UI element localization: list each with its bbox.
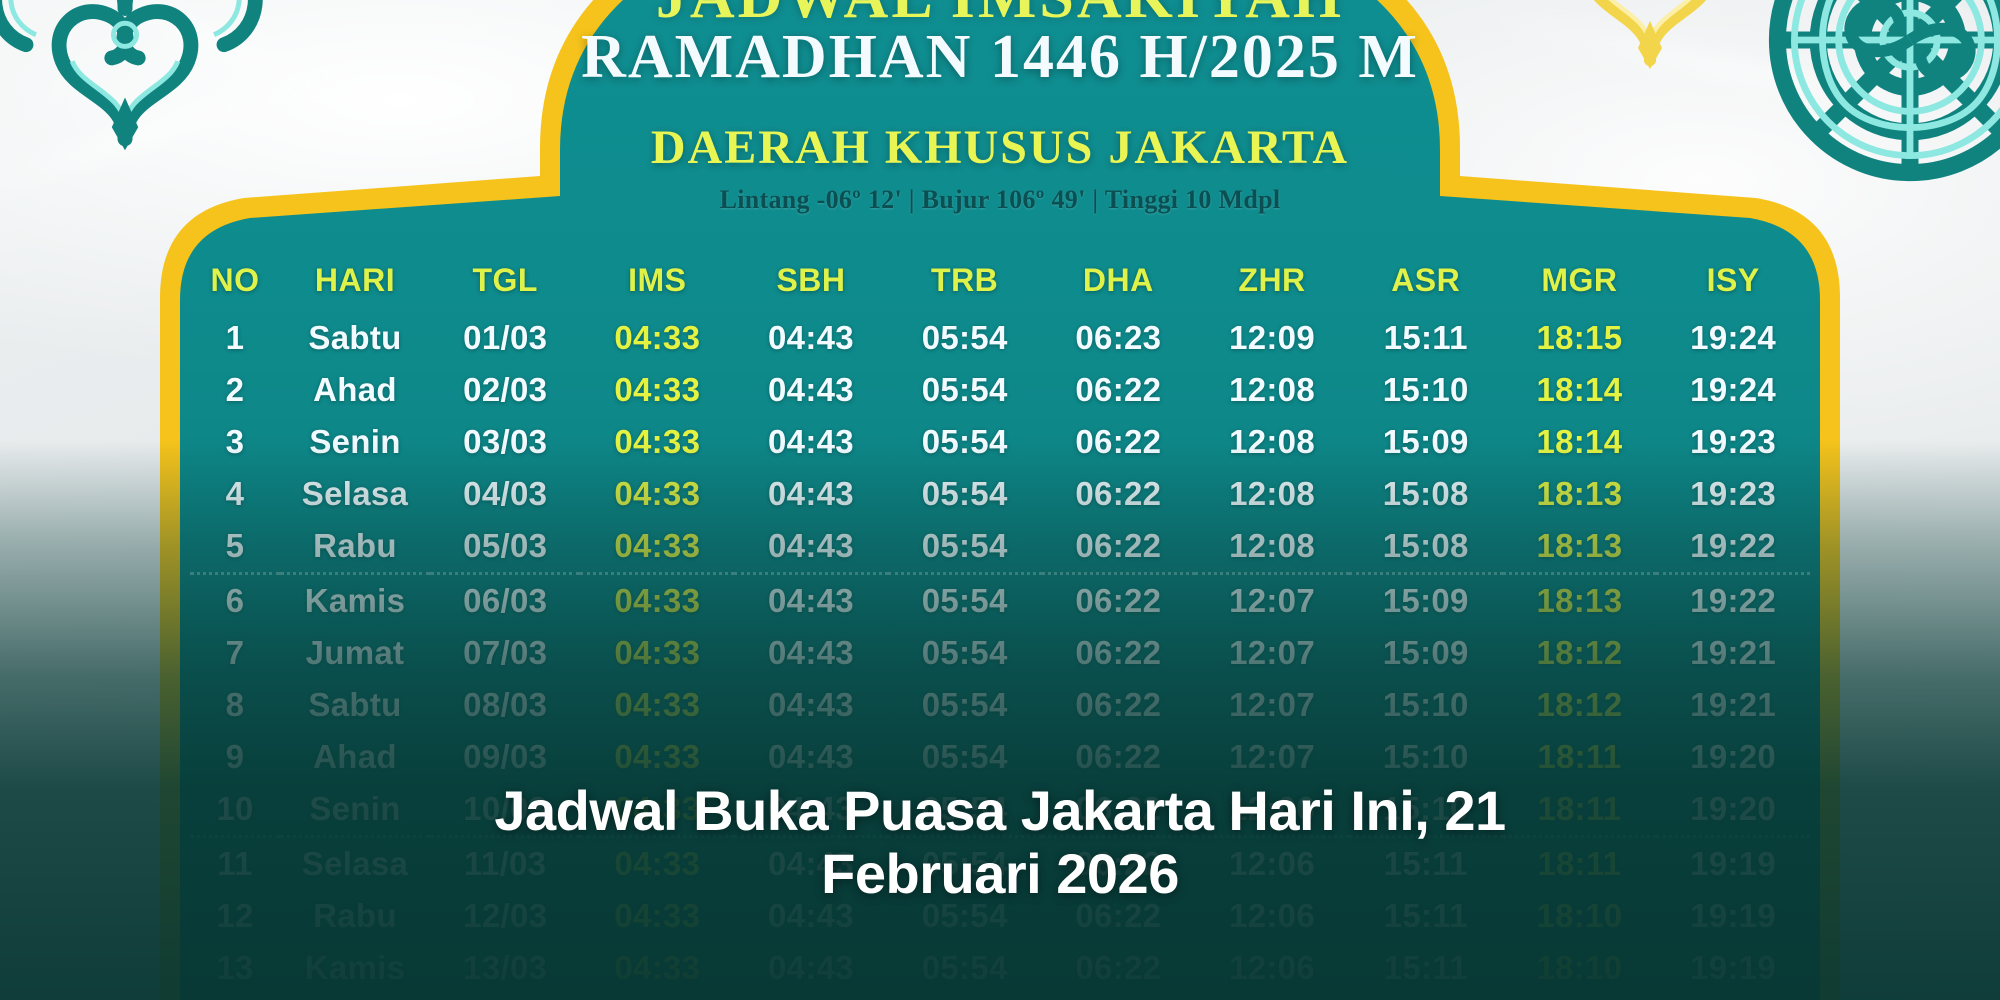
column-header-no: NO bbox=[190, 258, 280, 312]
cell-tgl: 07/03 bbox=[430, 627, 580, 679]
cell-zhr: 12:08 bbox=[1195, 416, 1349, 468]
cell-zhr: 12:07 bbox=[1195, 627, 1349, 679]
cell-sbh: 04:43 bbox=[734, 627, 888, 679]
cell-trb: 05:54 bbox=[888, 574, 1042, 628]
cell-dha: 06:22 bbox=[1042, 520, 1196, 574]
cell-sbh: 04:43 bbox=[734, 942, 888, 994]
cell-tgl: 04/03 bbox=[430, 468, 580, 520]
cell-mgr: 18:14 bbox=[1503, 416, 1657, 468]
cell-ims: 04:33 bbox=[580, 468, 734, 520]
cell-tgl: 09/03 bbox=[430, 731, 580, 783]
cell-no: 8 bbox=[190, 679, 280, 731]
cell-zhr: 12:08 bbox=[1195, 364, 1349, 416]
table-row: 13Kamis13/0304:3304:4305:5406:2212:0615:… bbox=[190, 942, 1810, 994]
cell-zhr: 12:07 bbox=[1195, 731, 1349, 783]
column-header-hari: HARI bbox=[280, 258, 430, 312]
cell-isy: 19:23 bbox=[1656, 416, 1810, 468]
cell-trb: 05:54 bbox=[888, 520, 1042, 574]
cell-hari: Ahad bbox=[280, 364, 430, 416]
cell-trb: 05:54 bbox=[888, 312, 1042, 364]
cell-zhr: 12:07 bbox=[1195, 679, 1349, 731]
cell-tgl: 01/03 bbox=[430, 312, 580, 364]
cell-dha: 06:23 bbox=[1042, 312, 1196, 364]
cell-zhr: 12:09 bbox=[1195, 312, 1349, 364]
cell-no: 2 bbox=[190, 364, 280, 416]
cell-isy: 19:22 bbox=[1656, 520, 1810, 574]
cell-dha: 06:22 bbox=[1042, 574, 1196, 628]
cell-zhr: 12:08 bbox=[1195, 520, 1349, 574]
cell-hari: Sabtu bbox=[280, 312, 430, 364]
caption-line-2: Februari 2026 bbox=[0, 843, 2000, 906]
cell-no: 5 bbox=[190, 520, 280, 574]
cell-asr: 15:10 bbox=[1349, 679, 1503, 731]
cell-asr: 15:10 bbox=[1349, 731, 1503, 783]
table-row: 3Senin03/0304:3304:4305:5406:2212:0815:0… bbox=[190, 416, 1810, 468]
cell-dha: 06:22 bbox=[1042, 416, 1196, 468]
cell-sbh: 04:43 bbox=[734, 574, 888, 628]
cell-isy: 19:24 bbox=[1656, 364, 1810, 416]
cell-no: 6 bbox=[190, 574, 280, 628]
table-header-row: NOHARITGLIMSSBHTRBDHAZHRASRMGRISY bbox=[190, 258, 1810, 312]
cell-ims: 04:33 bbox=[580, 520, 734, 574]
cell-tgl: 06/03 bbox=[430, 574, 580, 628]
cell-ims: 04:33 bbox=[580, 364, 734, 416]
caption-line-1: Jadwal Buka Puasa Jakarta Hari Ini, 21 bbox=[0, 780, 2000, 843]
cell-isy: 19:21 bbox=[1656, 627, 1810, 679]
poster-coordinates: Lintang -06º 12' | Bujur 106º 49' | Ting… bbox=[0, 185, 2000, 215]
cell-no: 9 bbox=[190, 731, 280, 783]
cell-sbh: 04:43 bbox=[734, 468, 888, 520]
cell-zhr: 12:06 bbox=[1195, 942, 1349, 994]
cell-trb: 05:54 bbox=[888, 416, 1042, 468]
poster-title-ramadhan: RAMADHAN 1446 H/2025 M bbox=[0, 22, 2000, 93]
cell-trb: 05:54 bbox=[888, 942, 1042, 994]
poster-content: JADWAL IMSAKIYAH RAMADHAN 1446 H/2025 M … bbox=[0, 0, 2000, 1000]
cell-ims: 04:33 bbox=[580, 679, 734, 731]
cell-tgl: 03/03 bbox=[430, 416, 580, 468]
cell-hari: Ahad bbox=[280, 731, 430, 783]
cell-hari: Rabu bbox=[280, 520, 430, 574]
cell-mgr: 18:15 bbox=[1503, 312, 1657, 364]
cell-asr: 15:09 bbox=[1349, 574, 1503, 628]
column-header-dha: DHA bbox=[1042, 258, 1196, 312]
cell-no: 7 bbox=[190, 627, 280, 679]
cell-trb: 05:54 bbox=[888, 468, 1042, 520]
table-row: 7Jumat07/0304:3304:4305:5406:2212:0715:0… bbox=[190, 627, 1810, 679]
cell-isy: 19:23 bbox=[1656, 468, 1810, 520]
cell-sbh: 04:43 bbox=[734, 364, 888, 416]
cell-dha: 06:22 bbox=[1042, 364, 1196, 416]
cell-no: 4 bbox=[190, 468, 280, 520]
cell-ims: 04:33 bbox=[580, 731, 734, 783]
column-header-trb: TRB bbox=[888, 258, 1042, 312]
column-header-zhr: ZHR bbox=[1195, 258, 1349, 312]
cell-sbh: 04:43 bbox=[734, 416, 888, 468]
table-row: 8Sabtu08/0304:3304:4305:5406:2212:0715:1… bbox=[190, 679, 1810, 731]
cell-hari: Sabtu bbox=[280, 679, 430, 731]
cell-tgl: 05/03 bbox=[430, 520, 580, 574]
ramadan-schedule-poster: JADWAL IMSAKIYAH RAMADHAN 1446 H/2025 M … bbox=[0, 0, 2000, 1000]
cell-asr: 15:09 bbox=[1349, 416, 1503, 468]
cell-dha: 06:22 bbox=[1042, 679, 1196, 731]
cell-mgr: 18:10 bbox=[1503, 942, 1657, 994]
cell-hari: Selasa bbox=[280, 468, 430, 520]
table-header: NOHARITGLIMSSBHTRBDHAZHRASRMGRISY bbox=[190, 258, 1810, 312]
column-header-isy: ISY bbox=[1656, 258, 1810, 312]
cell-tgl: 08/03 bbox=[430, 679, 580, 731]
cell-mgr: 18:13 bbox=[1503, 520, 1657, 574]
cell-tgl: 13/03 bbox=[430, 942, 580, 994]
cell-mgr: 18:14 bbox=[1503, 364, 1657, 416]
cell-ims: 04:33 bbox=[580, 416, 734, 468]
cell-asr: 15:11 bbox=[1349, 312, 1503, 364]
cell-mgr: 18:11 bbox=[1503, 731, 1657, 783]
cell-ims: 04:33 bbox=[580, 627, 734, 679]
cell-dha: 06:22 bbox=[1042, 468, 1196, 520]
cell-hari: Senin bbox=[280, 416, 430, 468]
cell-mgr: 18:12 bbox=[1503, 627, 1657, 679]
cell-isy: 19:21 bbox=[1656, 679, 1810, 731]
cell-asr: 15:09 bbox=[1349, 627, 1503, 679]
cell-sbh: 04:43 bbox=[734, 520, 888, 574]
cell-isy: 19:22 bbox=[1656, 574, 1810, 628]
column-header-sbh: SBH bbox=[734, 258, 888, 312]
cell-hari: Kamis bbox=[280, 574, 430, 628]
cell-ims: 04:33 bbox=[580, 574, 734, 628]
cell-sbh: 04:43 bbox=[734, 679, 888, 731]
cell-trb: 05:54 bbox=[888, 627, 1042, 679]
column-header-asr: ASR bbox=[1349, 258, 1503, 312]
cell-dha: 06:22 bbox=[1042, 731, 1196, 783]
table-row: 5Rabu05/0304:3304:4305:5406:2212:0815:08… bbox=[190, 520, 1810, 574]
cell-zhr: 12:07 bbox=[1195, 574, 1349, 628]
cell-trb: 05:54 bbox=[888, 364, 1042, 416]
cell-no: 13 bbox=[190, 942, 280, 994]
cell-no: 1 bbox=[190, 312, 280, 364]
table-row: 9Ahad09/0304:3304:4305:5406:2212:0715:10… bbox=[190, 731, 1810, 783]
table-row: 6Kamis06/0304:3304:4305:5406:2212:0715:0… bbox=[190, 574, 1810, 628]
table-row: 2Ahad02/0304:3304:4305:5406:2212:0815:10… bbox=[190, 364, 1810, 416]
cell-no: 3 bbox=[190, 416, 280, 468]
column-header-ims: IMS bbox=[580, 258, 734, 312]
column-header-tgl: TGL bbox=[430, 258, 580, 312]
cell-zhr: 12:08 bbox=[1195, 468, 1349, 520]
cell-tgl: 02/03 bbox=[430, 364, 580, 416]
cell-asr: 15:10 bbox=[1349, 364, 1503, 416]
cell-mgr: 18:13 bbox=[1503, 574, 1657, 628]
cell-asr: 15:11 bbox=[1349, 942, 1503, 994]
column-header-mgr: MGR bbox=[1503, 258, 1657, 312]
cell-mgr: 18:13 bbox=[1503, 468, 1657, 520]
cell-isy: 19:19 bbox=[1656, 942, 1810, 994]
cell-sbh: 04:43 bbox=[734, 731, 888, 783]
table-row: 4Selasa04/0304:3304:4305:5406:2212:0815:… bbox=[190, 468, 1810, 520]
cell-asr: 15:08 bbox=[1349, 468, 1503, 520]
cell-sbh: 04:43 bbox=[734, 312, 888, 364]
cell-mgr: 18:12 bbox=[1503, 679, 1657, 731]
cell-dha: 06:22 bbox=[1042, 942, 1196, 994]
cell-asr: 15:08 bbox=[1349, 520, 1503, 574]
cell-hari: Kamis bbox=[280, 942, 430, 994]
cell-hari: Jumat bbox=[280, 627, 430, 679]
cell-ims: 04:33 bbox=[580, 312, 734, 364]
cell-isy: 19:20 bbox=[1656, 731, 1810, 783]
overlay-caption: Jadwal Buka Puasa Jakarta Hari Ini, 21 F… bbox=[0, 780, 2000, 905]
poster-region: DAERAH KHUSUS JAKARTA bbox=[0, 120, 2000, 175]
cell-trb: 05:54 bbox=[888, 731, 1042, 783]
table-row: 1Sabtu01/0304:3304:4305:5406:2312:0915:1… bbox=[190, 312, 1810, 364]
cell-trb: 05:54 bbox=[888, 679, 1042, 731]
cell-dha: 06:22 bbox=[1042, 627, 1196, 679]
cell-ims: 04:33 bbox=[580, 942, 734, 994]
cell-isy: 19:24 bbox=[1656, 312, 1810, 364]
